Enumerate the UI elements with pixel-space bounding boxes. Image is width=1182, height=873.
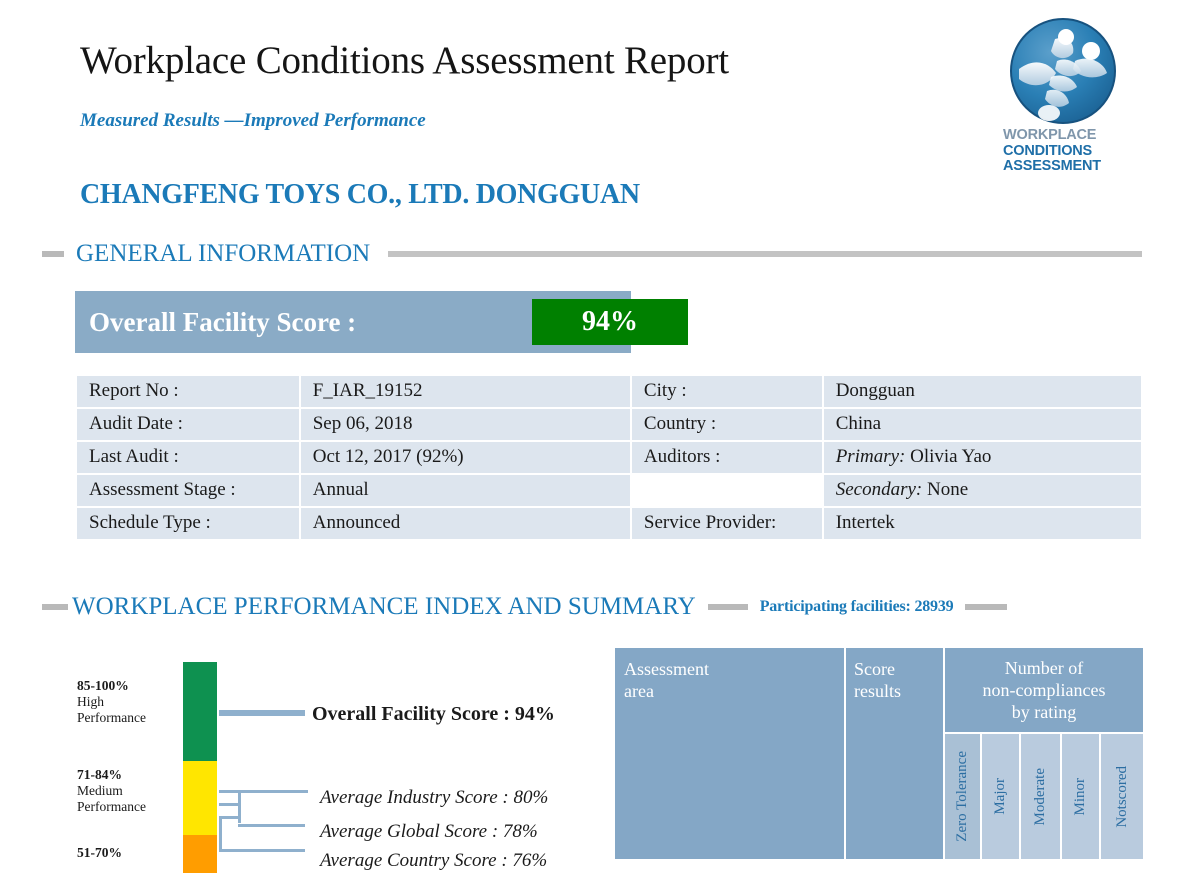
table-row: Last Audit : Oct 12, 2017 (92%) Auditors… <box>77 442 1141 473</box>
section-title-wpi-summary: WORKPLACE PERFORMANCE INDEX AND SUMMARY <box>72 593 696 621</box>
connector-country-h1 <box>219 816 239 819</box>
row-label-service-provider: Service Provider: <box>632 508 822 539</box>
overall-score-label: Overall Facility Score : <box>89 307 356 338</box>
row-label-country: Country : <box>632 409 822 440</box>
connector-overall <box>219 710 305 716</box>
row-label-last-audit: Last Audit : <box>77 442 299 473</box>
connector-global-h2 <box>238 824 305 827</box>
logo-line-1: WORKPLACE <box>1003 128 1125 144</box>
row-value-auditor-secondary: Secondary: None <box>824 475 1141 506</box>
rating-label-notscored: Notscored <box>1114 766 1131 828</box>
table-row: Report No : F_IAR_19152 City : Dongguan <box>77 376 1141 407</box>
connector-industry <box>219 790 308 793</box>
row-value-city: Dongguan <box>824 376 1141 407</box>
rating-label-moderate: Moderate <box>1032 768 1049 825</box>
logo-wordmark: WORKPLACE CONDITIONS ASSESSMENT <box>1003 128 1125 175</box>
row-value-schedule-type: Announced <box>301 508 630 539</box>
heading-rule-mid <box>708 604 748 610</box>
row-value-auditor-primary: Primary: Olivia Yao <box>824 442 1141 473</box>
section-title-general-information: GENERAL INFORMATION <box>76 240 370 268</box>
table-row: Assessment Stage : Annual Secondary: Non… <box>77 475 1141 506</box>
row-value-report-no: F_IAR_19152 <box>301 376 630 407</box>
callout-overall-facility-score: Overall Facility Score : 94% <box>312 703 555 726</box>
overall-facility-score-bar: Overall Facility Score : 94% <box>75 291 631 353</box>
row-value-assessment-stage: Annual <box>301 475 630 506</box>
column-header-assessment-area: Assessment area <box>615 648 844 859</box>
connector-country-v <box>219 816 222 852</box>
logo-line-3: ASSESSMENT <box>1003 159 1125 175</box>
row-value-country: China <box>824 409 1141 440</box>
connector-country-h2 <box>219 849 305 852</box>
column-header-score-results: Score results <box>846 648 943 859</box>
row-label-report-no: Report No : <box>77 376 299 407</box>
row-value-last-audit: Oct 12, 2017 (92%) <box>301 442 630 473</box>
auditor-secondary-name: None <box>927 479 968 500</box>
row-label-schedule-type: Schedule Type : <box>77 508 299 539</box>
row-label-assessment-stage: Assessment Stage : <box>77 475 299 506</box>
row-label-auditors: Auditors : <box>632 442 822 473</box>
section-heading-wpi-summary: WORKPLACE PERFORMANCE INDEX AND SUMMARY … <box>42 593 1142 621</box>
column-header-moderate: Moderate <box>1021 734 1060 859</box>
row-label-audit-date: Audit Date : <box>77 409 299 440</box>
column-header-zero-tolerance: Zero Tolerance <box>945 734 980 859</box>
page-title: Workplace Conditions Assessment Report <box>80 38 729 83</box>
heading-rule-right <box>965 604 1007 610</box>
callout-average-industry-score: Average Industry Score : 80% <box>320 787 548 809</box>
auditor-primary-prefix: Primary: <box>836 446 906 467</box>
row-label-empty <box>632 475 822 506</box>
general-information-table: Report No : F_IAR_19152 City : Dongguan … <box>75 374 1143 541</box>
heading-rule-left <box>42 604 68 610</box>
summary-table: Assessment area Score results Number of … <box>615 648 1143 859</box>
facility-name: CHANGFENG TOYS CO., LTD. DONGGUAN <box>80 179 640 211</box>
participating-facilities-count: Participating facilities: 28939 <box>760 598 954 616</box>
score-callouts: Overall Facility Score : 94% Average Ind… <box>0 648 620 859</box>
row-label-city: City : <box>632 376 822 407</box>
heading-rule-right <box>388 251 1142 257</box>
row-value-audit-date: Sep 06, 2018 <box>301 409 630 440</box>
wpi-panel: 85-100% High Performance 71-84% Medium P… <box>0 648 1182 859</box>
row-value-service-provider: Intertek <box>824 508 1141 539</box>
column-header-notscored: Notscored <box>1101 734 1143 859</box>
callout-average-country-score: Average Country Score : 76% <box>320 850 547 872</box>
auditor-secondary-prefix: Secondary: <box>836 479 923 500</box>
table-row: Audit Date : Sep 06, 2018 Country : Chin… <box>77 409 1141 440</box>
rating-label-major: Major <box>992 778 1009 815</box>
rating-label-zero-tolerance: Zero Tolerance <box>954 751 971 842</box>
rating-label-minor: Minor <box>1072 778 1089 816</box>
column-header-noncompliances: Number of non-compliances by rating <box>945 648 1143 732</box>
heading-rule-left <box>42 251 64 257</box>
column-header-major: Major <box>982 734 1019 859</box>
table-row: Schedule Type : Announced Service Provid… <box>77 508 1141 539</box>
wca-logo: WORKPLACE CONDITIONS ASSESSMENT <box>1003 17 1125 169</box>
logo-line-2: CONDITIONS <box>1003 144 1125 160</box>
wca-globe-figures-logo-icon <box>1009 17 1117 125</box>
auditor-primary-name: Olivia Yao <box>910 446 991 467</box>
report-tagline: Measured Results —Improved Performance <box>80 110 426 132</box>
overall-score-value: 94% <box>532 299 688 345</box>
section-heading-general-information: GENERAL INFORMATION <box>42 240 1142 268</box>
general-information-table-body: Report No : F_IAR_19152 City : Dongguan … <box>77 376 1141 539</box>
callout-average-global-score: Average Global Score : 78% <box>320 821 538 843</box>
column-header-minor: Minor <box>1062 734 1099 859</box>
